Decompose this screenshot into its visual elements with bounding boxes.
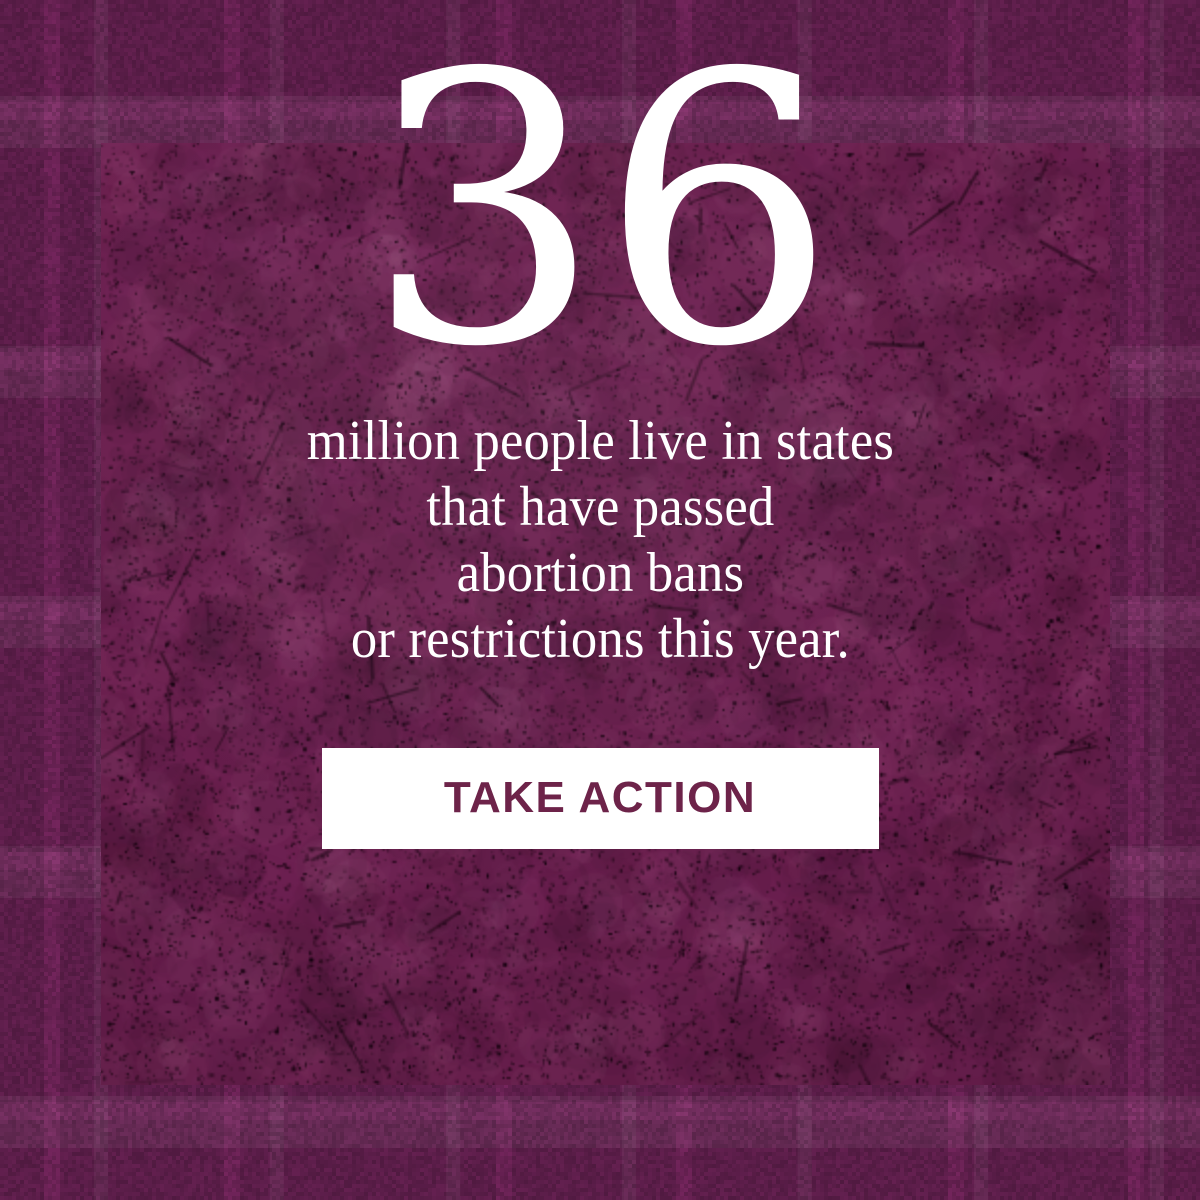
stat-statement: million people live in states that have … [306, 408, 893, 672]
take-action-button[interactable]: TAKE ACTION [322, 748, 879, 849]
stat-number: 36 [365, 52, 834, 372]
cta-container: TAKE ACTION [322, 748, 879, 849]
stat-poster: 36 million people live in states that ha… [0, 0, 1200, 1200]
poster-content: 36 million people live in states that ha… [0, 0, 1200, 1200]
